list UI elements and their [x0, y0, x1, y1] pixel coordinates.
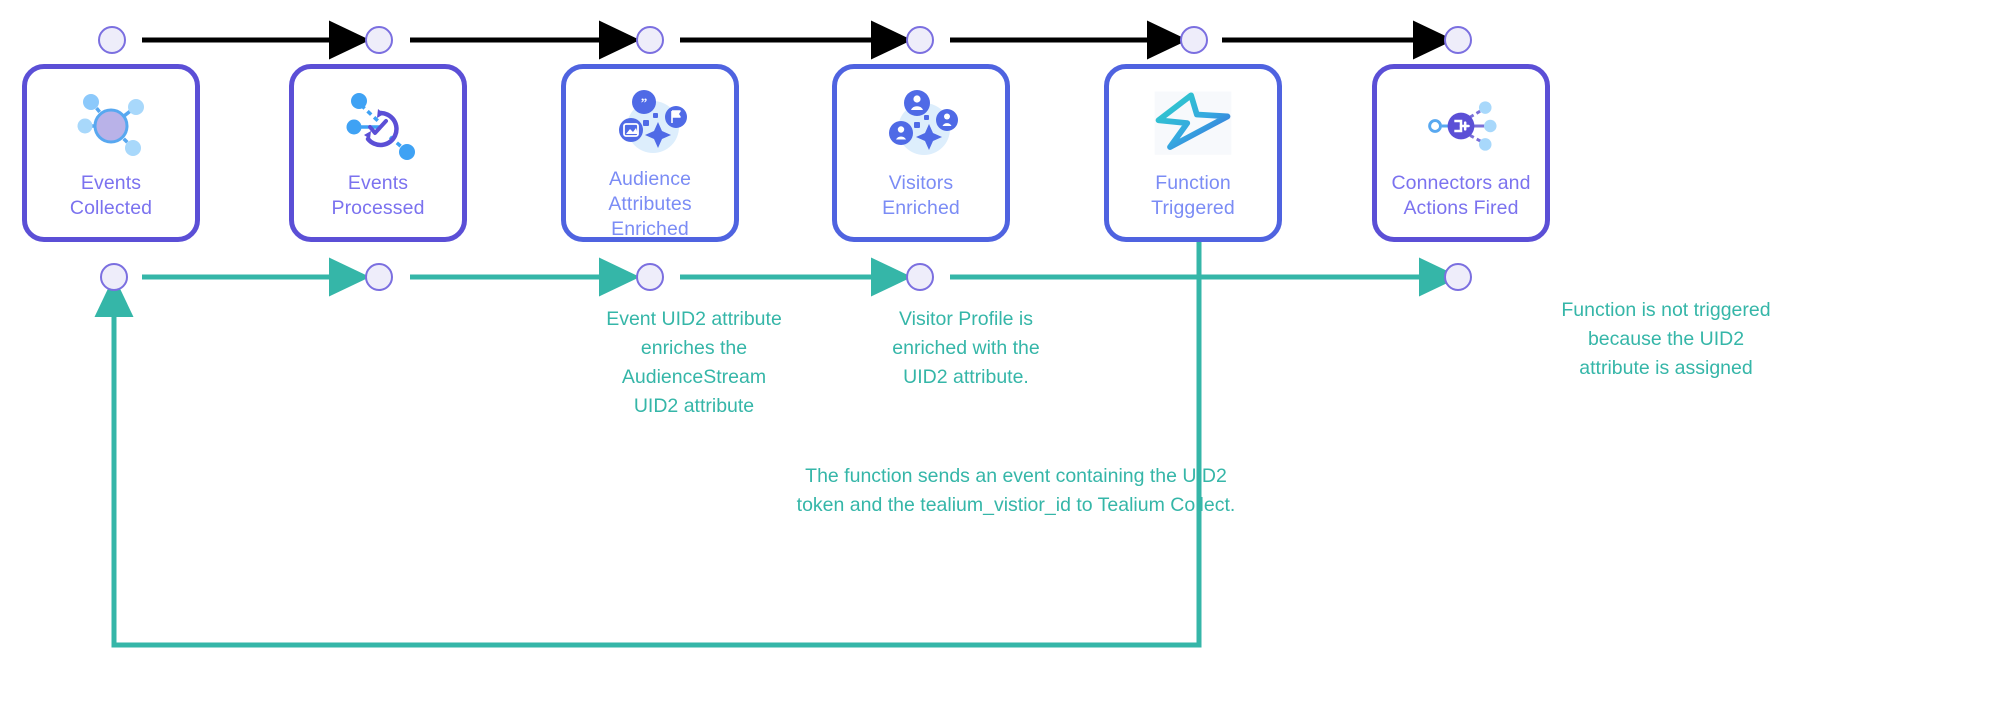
step-card-visitors-enriched[interactable]: Visitors Enriched	[832, 64, 1010, 242]
step-card-function-triggered[interactable]: Function Triggered	[1104, 64, 1282, 242]
node-dot-top-3	[636, 26, 664, 54]
lightning-bolt-icon	[1147, 85, 1239, 167]
caption-event-uid2-attribute: Event UID2 attribute enriches the Audien…	[556, 305, 832, 421]
node-dot-mid-1	[100, 263, 128, 291]
node-dot-top-5	[1180, 26, 1208, 54]
visitors-icon	[875, 85, 967, 167]
step-card-label: Visitors Enriched	[882, 171, 960, 221]
node-dot-mid-5	[1444, 263, 1472, 291]
diagram-canvas: Events Collected Events Processed	[0, 0, 1999, 727]
step-card-events-collected[interactable]: Events Collected	[22, 64, 200, 242]
caption-visitor-profile-enriched: Visitor Profile is enriched with the UID…	[832, 305, 1100, 392]
attributes-icon: ”	[604, 85, 696, 163]
step-card-label: Connectors and Actions Fired	[1391, 171, 1530, 221]
node-dot-mid-4	[906, 263, 934, 291]
node-dot-top-1	[98, 26, 126, 54]
feedback-loop-path	[114, 240, 1199, 645]
network-hub-icon	[65, 85, 157, 167]
process-check-icon	[332, 85, 424, 167]
step-card-label: Events Collected	[70, 171, 152, 221]
node-dot-top-2	[365, 26, 393, 54]
node-dot-top-4	[906, 26, 934, 54]
node-dot-top-6	[1444, 26, 1472, 54]
step-card-label: Events Processed	[331, 171, 424, 221]
node-dot-mid-3	[636, 263, 664, 291]
step-card-audience-attributes-enriched[interactable]: ” Audience Attributes Enriched	[561, 64, 739, 242]
connector-hub-icon	[1415, 85, 1507, 167]
caption-function-not-triggered: Function is not triggered because the UI…	[1516, 296, 1816, 383]
node-dot-mid-2	[365, 263, 393, 291]
step-card-events-processed[interactable]: Events Processed	[289, 64, 467, 242]
caption-function-sends-event: The function sends an event containing t…	[716, 462, 1316, 520]
step-card-label: Audience Attributes Enriched	[608, 167, 691, 242]
step-card-label: Function Triggered	[1151, 171, 1235, 221]
step-card-connectors-actions-fired[interactable]: Connectors and Actions Fired	[1372, 64, 1550, 242]
svg-text:”: ”	[641, 95, 648, 110]
